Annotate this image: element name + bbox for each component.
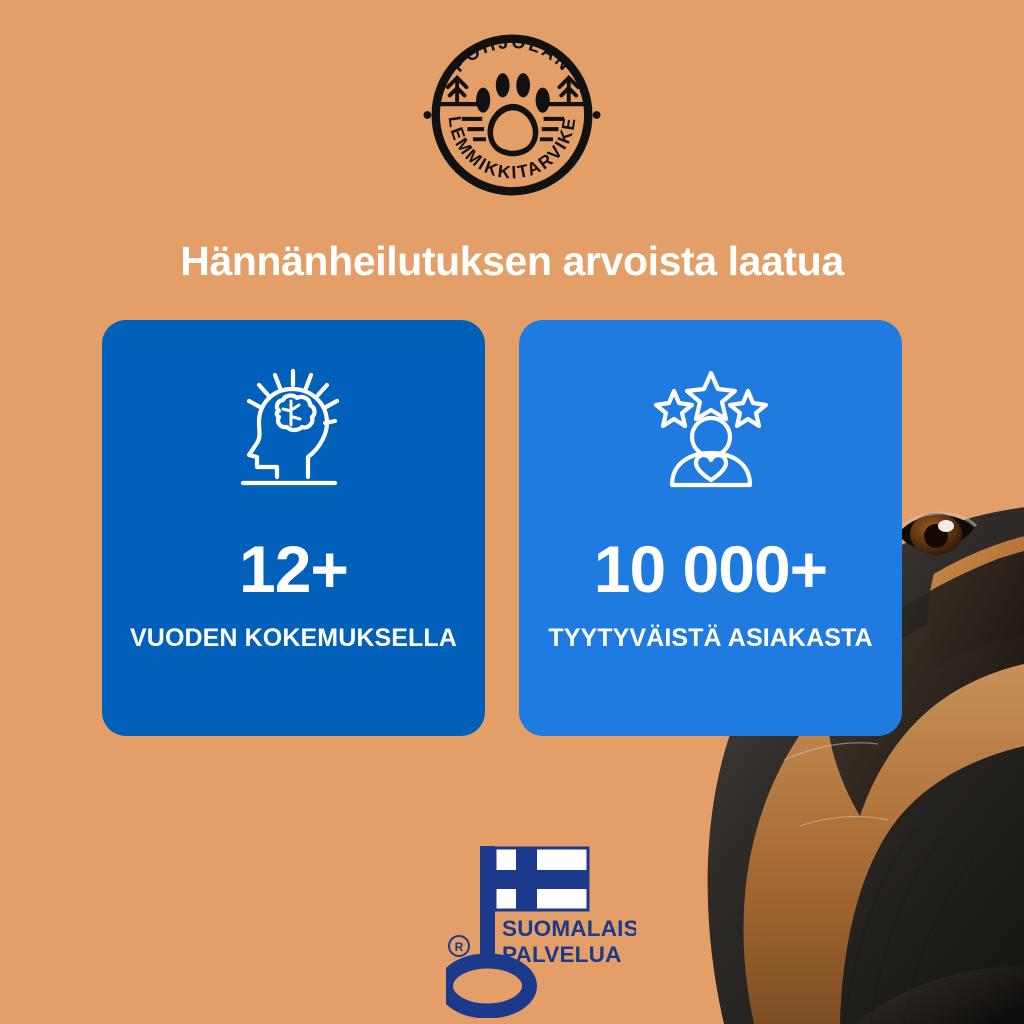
badge-line-1: SUOMALAISTA (502, 916, 636, 941)
brand-logo: POHJOLAN LEMMIKKITARVIKE (419, 22, 605, 208)
stat-card-experience: 12+ VUODEN KOKEMUKSELLA (102, 320, 485, 736)
stat-label: VUODEN KOKEMUKSELLA (130, 624, 457, 653)
logo-top-text: POHJOLAN (448, 32, 576, 76)
svg-text:R: R (455, 940, 464, 954)
pohjolan-lemmikkitarvike-logo-icon: POHJOLAN LEMMIKKITARVIKE (419, 22, 605, 208)
registered-mark: R (449, 936, 469, 956)
head-with-brain-icon (235, 362, 353, 492)
stat-number: 10 000+ (594, 536, 827, 602)
stat-number: 12+ (239, 536, 348, 602)
suomalaista-palvelua-badge: R SUOMALAISTA PALVELUA (446, 838, 636, 1018)
key-flag-icon: R SUOMALAISTA PALVELUA (446, 838, 636, 1018)
badge-line-2: PALVELUA (502, 942, 622, 967)
promo-graphic: POHJOLAN LEMMIKKITARVIKE Hännänheilutuks… (0, 0, 1024, 1024)
stat-label: TYYTYVÄISTÄ ASIAKASTA (548, 624, 872, 653)
headline: Hännänheilutuksen arvoista laatua (0, 238, 1024, 285)
stat-cards: 12+ VUODEN KOKEMUKSELLA 10 000 (102, 320, 902, 736)
person-with-heart-and-stars-icon (652, 362, 770, 492)
stat-card-customers: 10 000+ TYYTYVÄISTÄ ASIAKASTA (519, 320, 902, 736)
